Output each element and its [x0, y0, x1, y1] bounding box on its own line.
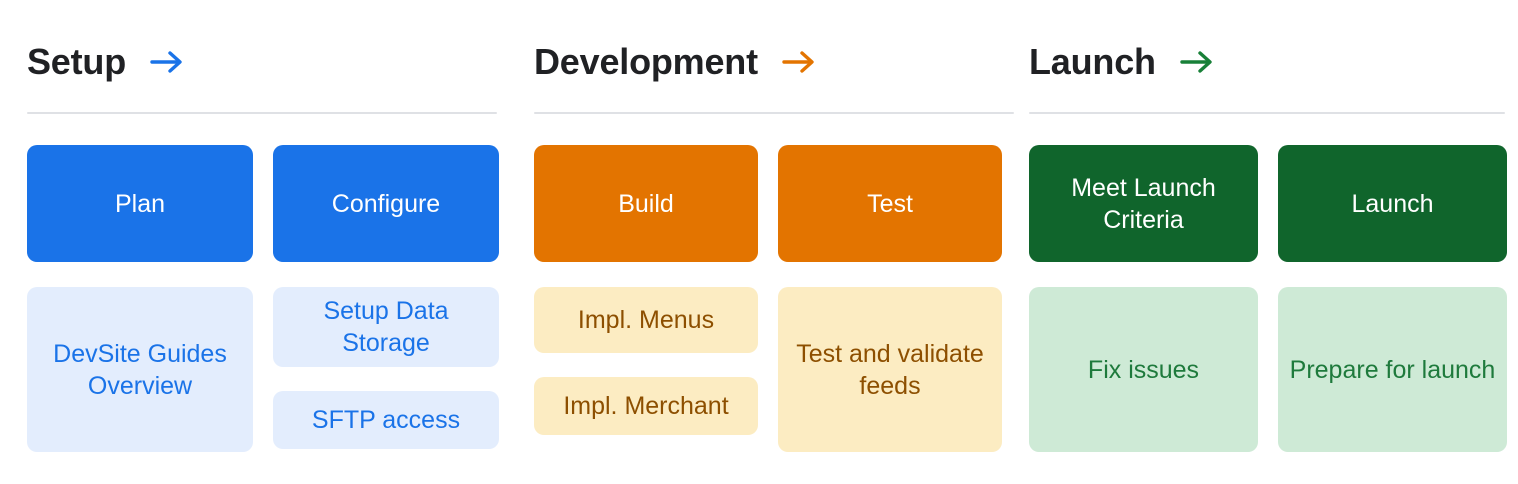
phase-header-setup: Setup: [0, 34, 507, 90]
arrow-right-icon[interactable]: [150, 48, 184, 76]
sub-card[interactable]: Test and validate feeds: [778, 287, 1002, 452]
primary-card-test[interactable]: Test: [778, 145, 1002, 262]
phase-column-setup: SetupPlanDevSite Guides OverviewConfigur…: [0, 0, 507, 484]
phase-column-development: DevelopmentBuildImpl. MenusImpl. Merchan…: [507, 0, 1002, 484]
phase-tracks: PlanDevSite Guides OverviewConfigureSetu…: [27, 145, 507, 452]
roadmap-board: SetupPlanDevSite Guides OverviewConfigur…: [0, 0, 1518, 484]
primary-card-launch[interactable]: Launch: [1278, 145, 1507, 262]
arrow-right-icon[interactable]: [782, 48, 816, 76]
track-launch: LaunchPrepare for launch: [1278, 145, 1507, 452]
track-meet-launch-criteria: Meet Launch CriteriaFix issues: [1029, 145, 1258, 452]
primary-card-meet-launch-criteria[interactable]: Meet Launch Criteria: [1029, 145, 1258, 262]
phase-divider: [1029, 112, 1505, 114]
track-plan: PlanDevSite Guides Overview: [27, 145, 253, 452]
sub-card-stack: Fix issues: [1029, 287, 1258, 452]
sub-card[interactable]: Impl. Menus: [534, 287, 758, 353]
phase-title: Development: [534, 42, 758, 82]
sub-card[interactable]: DevSite Guides Overview: [27, 287, 253, 452]
track-test: TestTest and validate feeds: [778, 145, 1002, 452]
phase-title: Launch: [1029, 42, 1156, 82]
sub-card-stack: Setup Data StorageSFTP access: [273, 287, 499, 449]
sub-card[interactable]: SFTP access: [273, 391, 499, 449]
phase-divider: [27, 112, 497, 114]
phase-tracks: Meet Launch CriteriaFix issuesLaunchPrep…: [1029, 145, 1518, 452]
primary-card-plan[interactable]: Plan: [27, 145, 253, 262]
track-build: BuildImpl. MenusImpl. Merchant: [534, 145, 758, 452]
sub-card-stack: DevSite Guides Overview: [27, 287, 253, 452]
track-configure: ConfigureSetup Data StorageSFTP access: [273, 145, 499, 452]
phase-title: Setup: [27, 42, 126, 82]
sub-card[interactable]: Setup Data Storage: [273, 287, 499, 367]
sub-card[interactable]: Prepare for launch: [1278, 287, 1507, 452]
phase-column-launch: LaunchMeet Launch CriteriaFix issuesLaun…: [1002, 0, 1518, 484]
sub-card-stack: Test and validate feeds: [778, 287, 1002, 452]
phase-divider: [534, 112, 1014, 114]
arrow-right-icon[interactable]: [1180, 48, 1214, 76]
phase-header-development: Development: [507, 34, 1002, 90]
primary-card-build[interactable]: Build: [534, 145, 758, 262]
phase-header-launch: Launch: [1002, 34, 1518, 90]
sub-card[interactable]: Impl. Merchant: [534, 377, 758, 435]
sub-card[interactable]: Fix issues: [1029, 287, 1258, 452]
sub-card-stack: Prepare for launch: [1278, 287, 1507, 452]
primary-card-configure[interactable]: Configure: [273, 145, 499, 262]
sub-card-stack: Impl. MenusImpl. Merchant: [534, 287, 758, 435]
phase-tracks: BuildImpl. MenusImpl. MerchantTestTest a…: [534, 145, 1002, 452]
